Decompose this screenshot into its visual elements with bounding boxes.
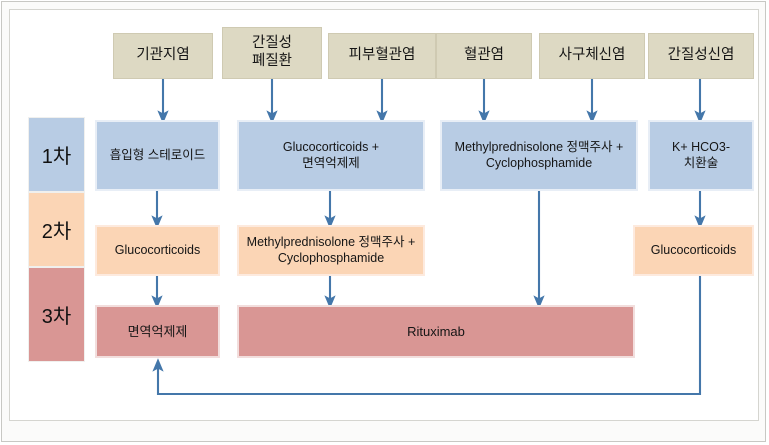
stage-label-2: 2차 bbox=[28, 192, 85, 267]
stage-2-text: 2차 bbox=[42, 215, 72, 244]
stage-3-text: 3차 bbox=[42, 300, 72, 329]
dx-cutaneous-vasculitis-box[interactable]: 피부혈관염 bbox=[328, 33, 436, 79]
stage-label-1: 1차 bbox=[28, 117, 85, 192]
t3-rituximab-box[interactable]: Rituximab bbox=[237, 305, 635, 358]
t2-mp-cyclophosphamide-box[interactable]: Methylprednisolone 정맥주사 + Cyclophosphami… bbox=[237, 225, 425, 276]
t1-k-hco3-box[interactable]: K+ HCO3- 치환술 bbox=[648, 120, 754, 191]
t3-immunosuppressant-box[interactable]: 면역억제제 bbox=[95, 305, 220, 358]
dx-vasculitis-box[interactable]: 혈관염 bbox=[436, 33, 532, 79]
dx-glomerulonephritis-box[interactable]: 사구체신염 bbox=[539, 33, 645, 79]
t2-glucocorticoids-right-box[interactable]: Glucocorticoids bbox=[633, 225, 754, 276]
flowchart-canvas: 1차 2차 3차 기관지염 간질성 폐질환 피부혈관염 혈관염 사구체신염 간질… bbox=[0, 0, 769, 445]
diagram-page: 1차 2차 3차 기관지염 간질성 폐질환 피부혈관염 혈관염 사구체신염 간질… bbox=[0, 0, 769, 445]
t1-mp-cyclophosphamide-box[interactable]: Methylprednisolone 정맥주사 + Cyclophosphami… bbox=[440, 120, 638, 191]
t1-gc-immunosuppressant-box[interactable]: Glucocorticoids + 면역억제제 bbox=[237, 120, 425, 191]
t1-inhaled-steroid-box[interactable]: 흡입형 스테로이드 bbox=[95, 120, 220, 191]
stage-1-text: 1차 bbox=[42, 140, 72, 169]
t2-glucocorticoids-box[interactable]: Glucocorticoids bbox=[95, 225, 220, 276]
dx-interstitial-lung-box[interactable]: 간질성 폐질환 bbox=[222, 27, 322, 79]
dx-bronchiolitis-box[interactable]: 기관지염 bbox=[113, 33, 213, 79]
dx-interstitial-nephritis-box[interactable]: 간질성신염 bbox=[648, 33, 754, 79]
stage-label-3: 3차 bbox=[28, 267, 85, 362]
